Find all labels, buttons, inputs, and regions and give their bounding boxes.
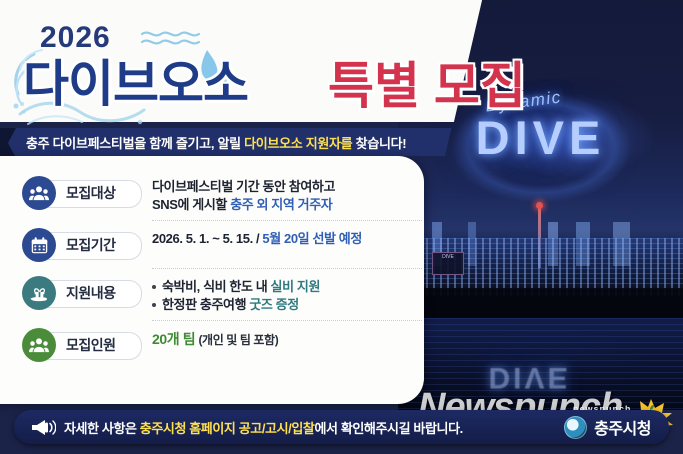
quota-line: 20개 팀 (개인 및 팀 포함) [152,330,422,349]
quota-note: (개인 및 팀 포함) [198,333,278,347]
badge-label: 모집대상 [66,183,116,203]
benefit-list: 숙박비, 식비 한도 내 실비 지원 한정판 충주여행 굿즈 증정 [152,278,422,314]
bottom-notice-text: 자세한 사항은 충주시청 홈페이지 공고/고시/입찰에서 확인해주시길 바랍니다… [64,418,463,437]
benefit-item: 숙박비, 식비 한도 내 실비 지원 [152,278,422,296]
info-row-target: 모집대상 다이브페스티벌 기간 동안 참여하고 SNS에 게시할 충주 외 지역… [22,176,422,220]
benefit-accent: 굿즈 증정 [249,297,298,312]
row-divider [152,220,422,221]
subtitle-highlight: 다이브오소 지원자를 [244,136,352,151]
poster-root: Dynamic DIVE DIVE DIVE [0,0,683,454]
info-content-target: 다이브페스티벌 기간 동안 참여하고 SNS에 게시할 충주 외 지역 거주자 [140,176,422,214]
poster-title-accent: 특별 모집 [328,46,526,118]
benefit-plain: 숙박비, 식비 한도 내 [162,279,271,294]
badge-period: 모집기간 [22,228,140,262]
period-dates: 2026. 5. 1. ~ 5. 15. / [152,231,262,246]
subtitle-ribbon: 충주 다이브페스티벌을 함께 즐기고, 알릴 다이브오소 지원자를 찾습니다! [0,128,434,156]
benefit-accent: 실비 지원 [271,279,320,294]
target-line2-plain: SNS에 게시할 [152,197,230,212]
badge-benefits: 지원내용 [22,276,140,310]
poster-header: 2026 다이브오소 특별 모집 충주 다이브페스티벌을 함께 즐기고, 알릴 … [0,0,683,156]
badge-target: 모집대상 [22,176,140,210]
chungju-city-name: 충주시청 [594,415,651,439]
info-row-benefits: 지원내용 숙박비, 식비 한도 내 실비 지원 한정판 충주여행 굿즈 증정 [22,276,422,320]
info-content-quota: 20개 팀 (개인 및 팀 포함) [140,328,422,349]
target-line2: SNS에 게시할 충주 외 지역 거주자 [152,196,422,214]
tree-line [398,288,683,322]
notice-part2: 에서 확인해주시길 바랍니다. [314,421,462,436]
badge-label: 지원내용 [66,283,116,303]
billboard-sign: DIVE [432,252,464,275]
subtitle-part2: 찾습니다! [352,136,406,151]
calendar-icon [22,228,56,262]
badge-label: 모집기간 [66,235,116,255]
notice-part1: 자세한 사항은 [64,421,140,436]
row-divider [152,320,422,321]
subtitle-text: 충주 다이브페스티벌을 함께 즐기고, 알릴 다이브오소 지원자를 찾습니다! [26,133,406,152]
notice-highlight: 충주시청 홈페이지 공고/고시/입찰 [140,421,315,436]
water-reflection-text: DIVE [422,336,637,394]
info-row-period: 모집기간 2026. 5. 1. ~ 5. 15. / 5월 20일 선발 예정 [22,228,422,268]
chungju-city-logo[interactable]: 충주시청 [564,415,651,439]
info-content-benefits: 숙박비, 식비 한도 내 실비 지원 한정판 충주여행 굿즈 증정 [140,276,422,314]
badge-quota: 모집인원 [22,328,140,362]
poster-title-main: 다이브오소 [23,44,248,116]
info-row-quota: 모집인원 20개 팀 (개인 및 팀 포함) [22,328,422,368]
info-rows: 모집대상 다이브페스티벌 기간 동안 참여하고 SNS에 게시할 충주 외 지역… [22,176,422,368]
megaphone-icon [30,417,56,437]
period-selection: 5월 20일 선발 예정 [262,231,362,246]
benefit-plain: 한정판 충주여행 [162,297,249,312]
chungju-city-emblem-icon [564,416,587,439]
benefit-item: 한정판 충주여행 굿즈 증정 [152,296,422,314]
row-divider [152,268,422,269]
bottom-notice-bar: 자세한 사항은 충주시청 홈페이지 공고/고시/입찰에서 확인해주시길 바랍니다… [14,410,669,444]
quota-count: 20개 팀 [152,331,195,347]
badge-label: 모집인원 [66,335,116,355]
people-group-icon [22,328,56,362]
subtitle-part1: 충주 다이브페스티벌을 함께 즐기고, 알릴 [26,136,244,151]
gift-hand-icon [22,276,56,310]
info-content-period: 2026. 5. 1. ~ 5. 15. / 5월 20일 선발 예정 [140,228,422,248]
people-group-icon [22,176,56,210]
target-line1: 다이브페스티벌 기간 동안 참여하고 [152,178,422,196]
period-line: 2026. 5. 1. ~ 5. 15. / 5월 20일 선발 예정 [152,230,422,248]
target-line2-accent: 충주 외 지역 거주자 [230,197,332,212]
